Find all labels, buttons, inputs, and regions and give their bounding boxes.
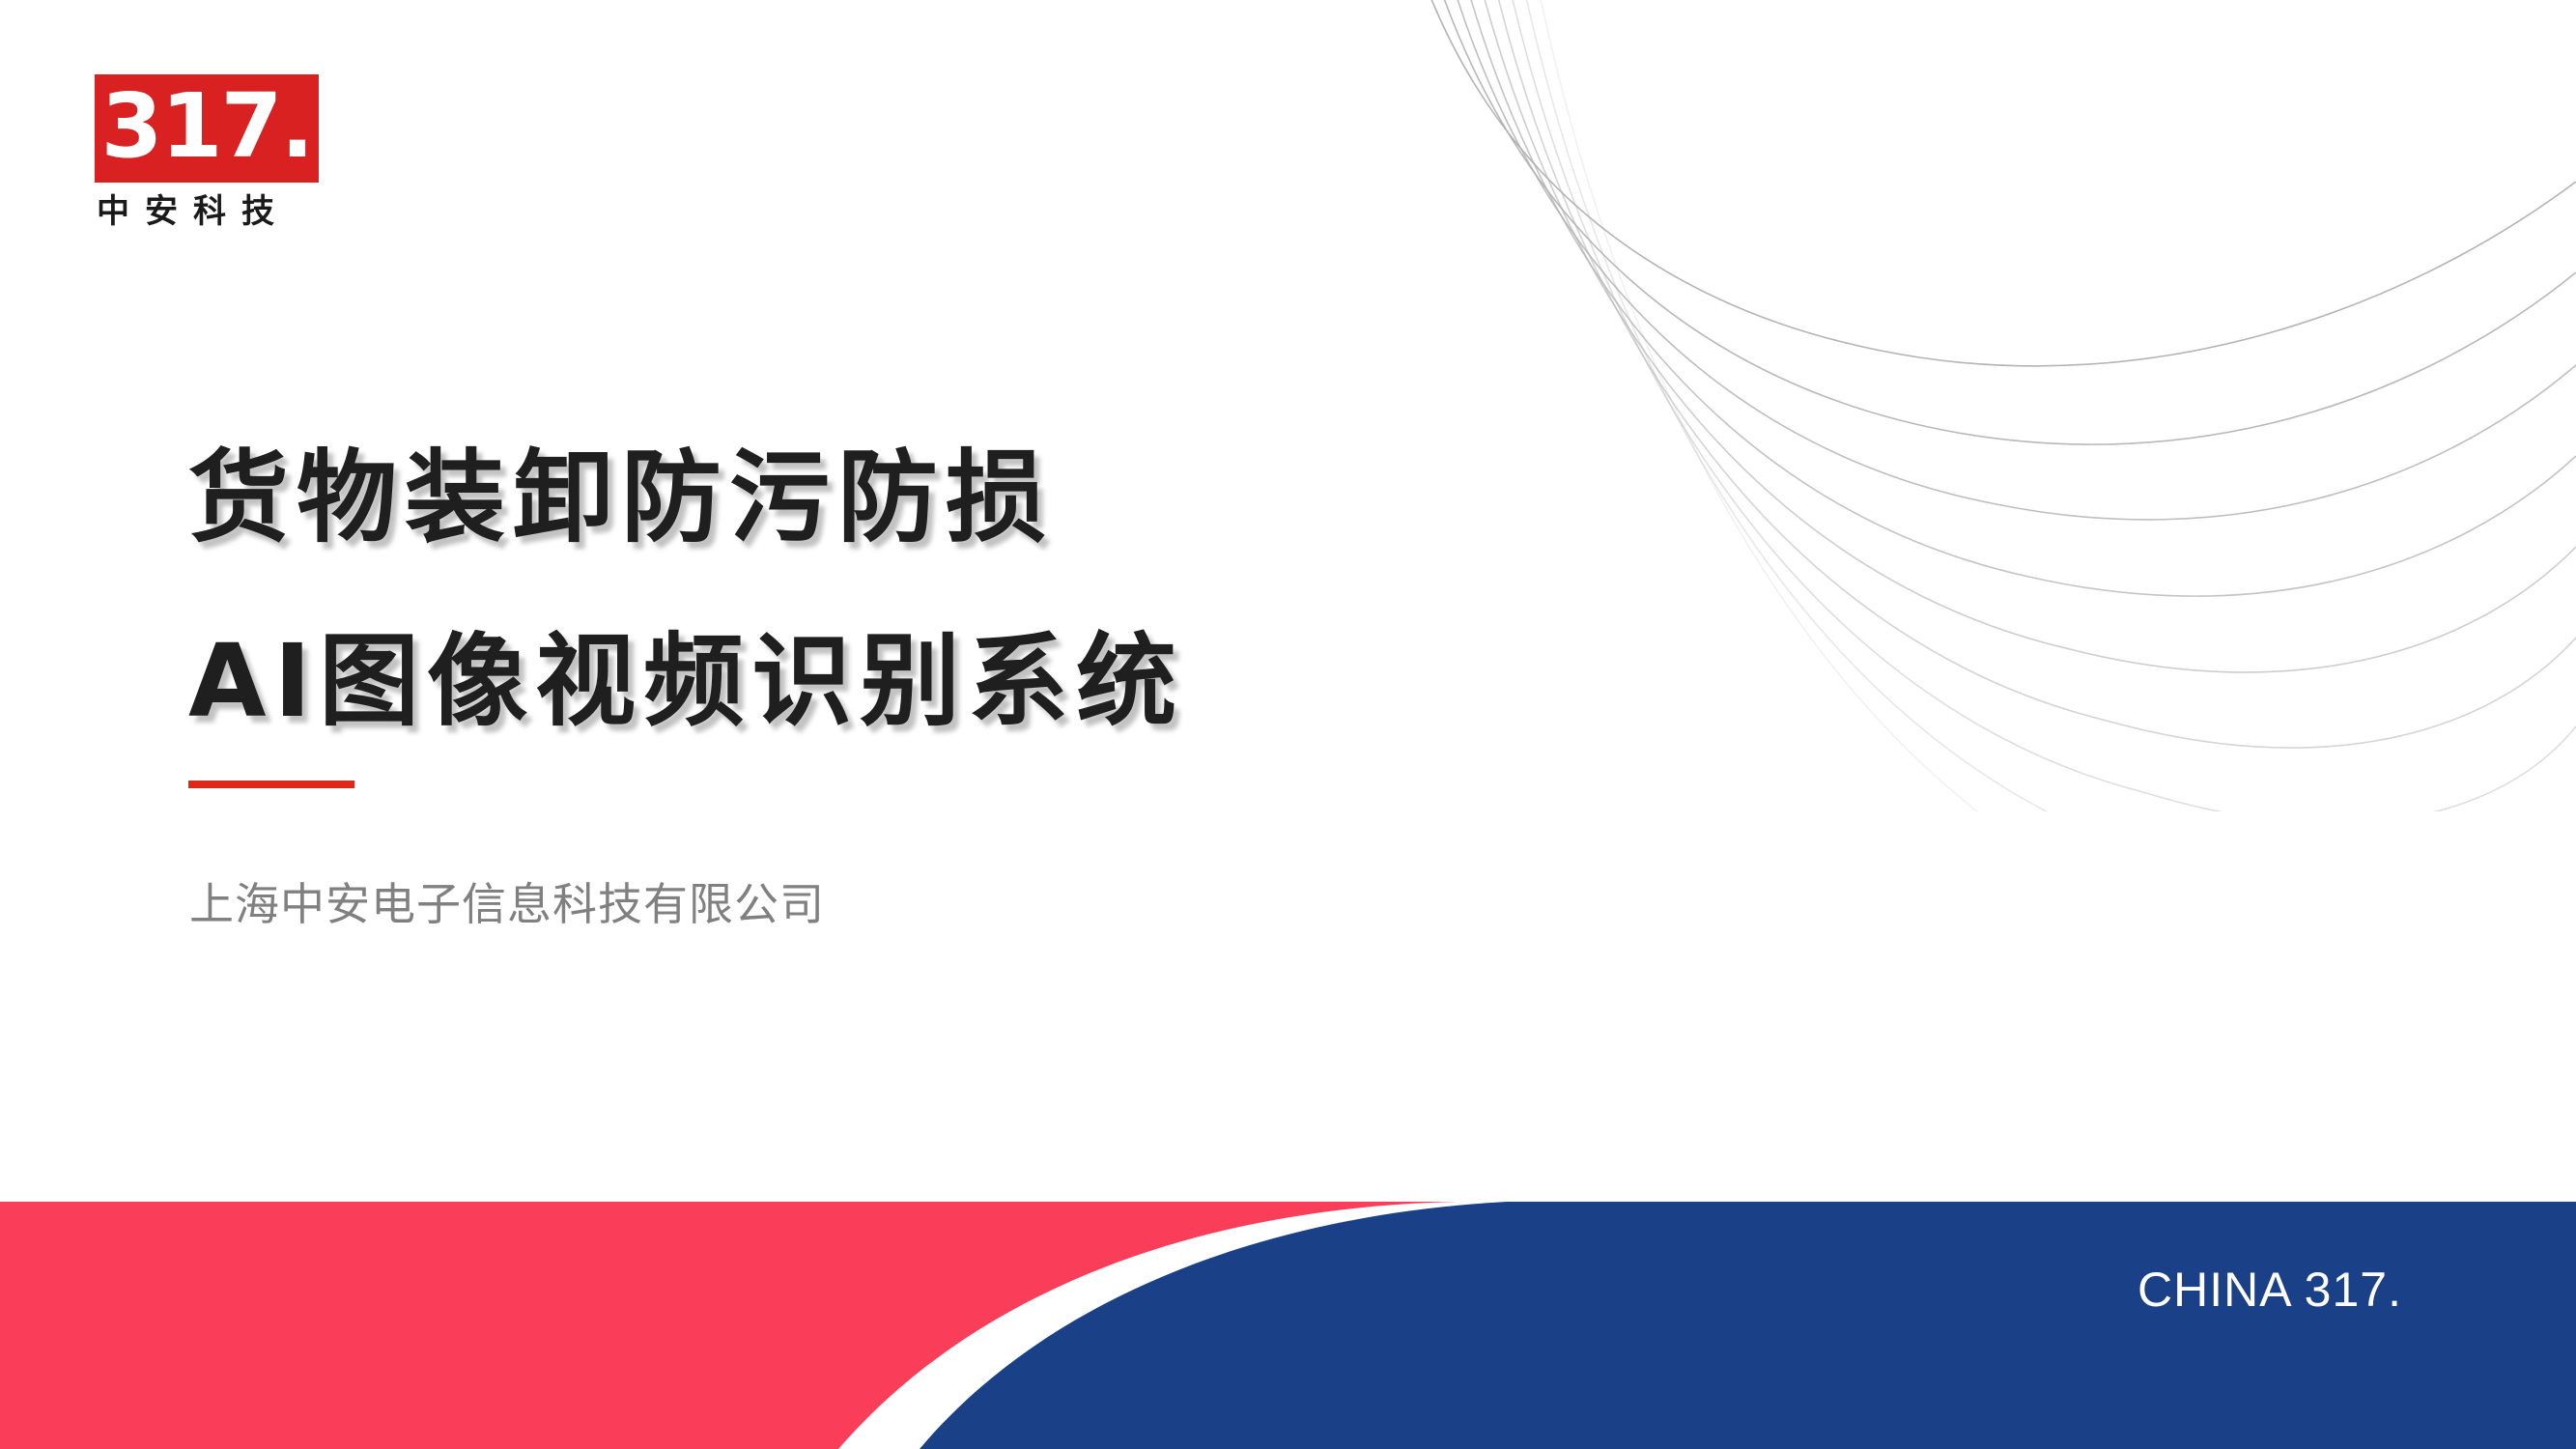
page-title: 货物装卸防污防损 AI图像视频识别系统 <box>188 406 1541 773</box>
slide-canvas: 317. 中安科技 货物装卸防污防损 AI图像视频识别系统 上海中安电子信息科技… <box>0 0 2576 1449</box>
title-divider-rule <box>188 781 354 788</box>
title-line-2: AI图像视频识别系统 <box>188 589 1541 773</box>
bottom-banner: CHINA 317. <box>0 1202 2576 1449</box>
banner-blue-curve <box>0 1202 2576 1449</box>
footer-brand-label: CHINA 317. <box>2137 1262 2402 1318</box>
company-subtitle: 上海中安电子信息科技有限公司 <box>189 877 825 933</box>
title-line-1: 货物装卸防污防损 <box>188 406 1541 589</box>
logo-mark-317: 317. <box>95 74 319 183</box>
decorative-curve-fan <box>1378 0 2576 811</box>
logo-subtitle-text: 中安科技 <box>95 195 319 228</box>
company-logo: 317. 中安科技 <box>95 74 319 228</box>
logo-mark-text: 317. <box>101 82 313 175</box>
